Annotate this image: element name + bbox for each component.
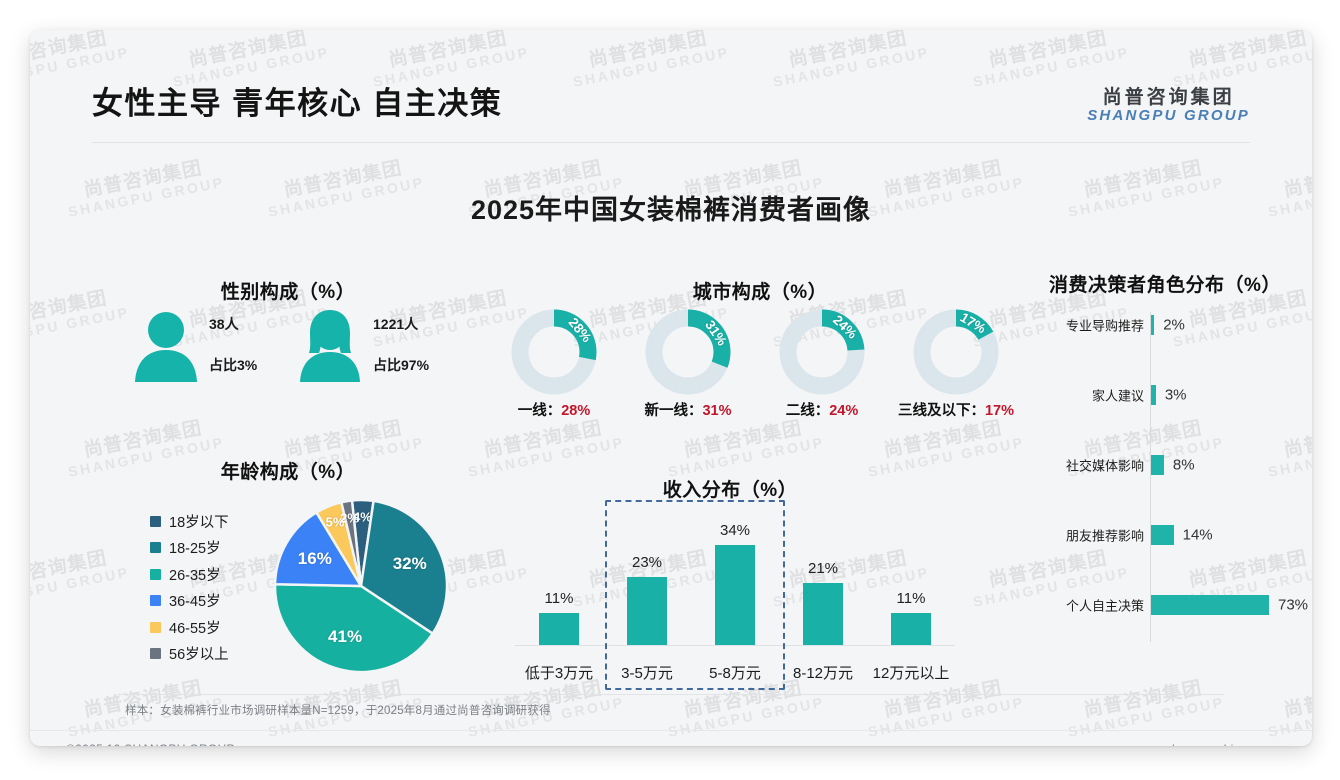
page-title: 2025年中国女装棉裤消费者画像 — [30, 188, 1312, 227]
donut-ring: 24% — [777, 307, 867, 397]
watermark: 尚普咨询集团SHANGPU GROUP — [663, 415, 826, 479]
sample-note: 样本：女装棉裤行业市场调研样本量N=1259，于2025年8月通过尚普咨询调研获… — [125, 702, 551, 718]
gender-section-title: 性别构成（%） — [138, 277, 438, 304]
age-legend-item: 46-55岁 — [150, 614, 260, 641]
female-count: 1221人 — [373, 314, 483, 334]
decision-bar-label: 家人建议 — [1092, 386, 1144, 405]
female-stats: 1221人 占比97% — [373, 314, 483, 375]
decision-bar-row: 朋友推荐影响14% — [1030, 522, 1300, 548]
income-bar-category: 低于3万元 — [525, 662, 593, 683]
decision-section-title: 消费决策者角色分布（%） — [1020, 270, 1310, 297]
decision-bar — [1151, 455, 1164, 475]
headline: 女性主导 青年核心 自主决策 — [92, 78, 502, 123]
income-section-title: 收入分布（%） — [510, 475, 950, 502]
watermark: 尚普咨询集团SHANGPU GROUP — [863, 415, 1026, 479]
age-legend-item: 36-45岁 — [150, 588, 260, 615]
income-bar-column: 21%8-12万元 — [779, 500, 867, 695]
city-donut-group: 28%一线：28%31%新一线：31%24%二线：24%17%三线及以下：17% — [490, 307, 1030, 407]
decision-bar-row: 家人建议3% — [1030, 382, 1300, 408]
city-donut-item: 24%二线：24% — [758, 307, 886, 397]
city-donut-item: 31%新一线：31% — [624, 307, 752, 397]
watermark: 尚普咨询集团SHANGPU GROUP — [30, 545, 131, 609]
income-bar-chart: 11%低于3万元23%3-5万元34%5-8万元21%8-12万元11%12万元… — [515, 500, 955, 695]
decision-bar-chart: 专业导购推荐2%家人建议3%社交媒体影响8%朋友推荐影响14%个人自主决策73% — [1030, 312, 1300, 642]
income-bar-category: 3-5万元 — [621, 662, 673, 683]
pie-slice-label: 16% — [298, 549, 332, 569]
website-url: www.shangpu-china.com — [1136, 742, 1274, 746]
donut-caption: 一线：28% — [490, 399, 618, 420]
income-bar — [627, 577, 667, 645]
legend-swatch — [150, 595, 161, 606]
age-legend: 18岁以下18-25岁26-35岁36-45岁46-55岁56岁以上 — [150, 508, 260, 667]
donut-caption-value: 28% — [561, 403, 590, 419]
decision-bar — [1151, 595, 1269, 615]
pie-slice-label: 32% — [393, 554, 427, 574]
footer-divider — [118, 694, 1224, 695]
decision-bar-row: 社交媒体影响8% — [1030, 452, 1300, 478]
income-bar-column: 11%12万元以上 — [867, 500, 955, 695]
donut-caption: 三线及以下：17% — [892, 399, 1020, 420]
legend-swatch — [150, 622, 161, 633]
donut-caption-text: 一线： — [518, 403, 562, 419]
pie-slice-label: 2% — [340, 511, 359, 526]
income-bar-value: 34% — [720, 522, 750, 539]
age-section-title: 年龄构成（%） — [128, 457, 448, 484]
income-bar-column: 34%5-8万元 — [691, 500, 779, 695]
legend-label: 18-25岁 — [169, 537, 221, 558]
legend-swatch — [150, 569, 161, 580]
legend-label: 18岁以下 — [169, 511, 229, 532]
donut-caption-text: 三线及以下： — [898, 403, 985, 419]
logo-english-text: SHANGPU GROUP — [1087, 108, 1250, 125]
decision-bar-value: 14% — [1183, 527, 1213, 544]
income-bar-value: 21% — [808, 560, 838, 577]
income-bar-value: 23% — [632, 554, 662, 571]
income-bar — [715, 545, 755, 645]
income-bar-column: 23%3-5万元 — [603, 500, 691, 695]
donut-caption-text: 二线： — [786, 403, 830, 419]
decision-bar-row: 个人自主决策73% — [1030, 592, 1300, 618]
decision-bar — [1151, 525, 1174, 545]
income-bar — [539, 613, 579, 645]
logo-chinese-text: 尚普咨询集团 — [1087, 87, 1250, 108]
header: 女性主导 青年核心 自主决策 尚普咨询集团 SHANGPU GROUP — [30, 30, 1312, 116]
decision-bar — [1151, 385, 1156, 405]
decision-bar-value: 8% — [1173, 457, 1195, 474]
decision-bar-label: 个人自主决策 — [1066, 596, 1144, 615]
income-bar-category: 5-8万元 — [709, 662, 761, 683]
infographic-card: 尚普咨询集团SHANGPU GROUP尚普咨询集团SHANGPU GROUP尚普… — [30, 30, 1312, 746]
legend-label: 56岁以上 — [169, 643, 229, 664]
donut-caption-value: 17% — [985, 403, 1014, 419]
legend-label: 36-45岁 — [169, 590, 221, 611]
legend-label: 46-55岁 — [169, 617, 221, 638]
header-divider — [92, 142, 1250, 143]
age-pie-labels: 4%32%41%16%5%2% — [273, 498, 449, 674]
age-pie-chart: 4%32%41%16%5%2% — [273, 498, 449, 674]
legend-swatch — [150, 648, 161, 659]
city-donut-item: 28%一线：28% — [490, 307, 618, 397]
donut-ring: 17% — [911, 307, 1001, 397]
donut-caption-text: 新一线： — [644, 403, 702, 419]
watermark: 尚普咨询集团SHANGPU GROUP — [30, 285, 131, 349]
legend-swatch — [150, 516, 161, 527]
donut-caption-value: 24% — [829, 403, 858, 419]
watermark: 尚普咨询集团SHANGPU GROUP — [463, 415, 626, 479]
income-bar — [803, 583, 843, 645]
male-silhouette-icon — [133, 308, 199, 384]
decision-bar-value: 73% — [1278, 597, 1308, 614]
decision-bar — [1151, 315, 1154, 335]
gender-section: 38人 占比3% 1221人 占比97% — [125, 308, 465, 388]
copyright-text: ©2025.10 SHANGPU GROUP — [66, 742, 235, 746]
age-legend-item: 18-25岁 — [150, 535, 260, 562]
income-bar-category: 12万元以上 — [873, 662, 950, 683]
decision-bar-label: 专业导购推荐 — [1066, 316, 1144, 335]
donut-ring: 31% — [643, 307, 733, 397]
age-legend-item: 26-35岁 — [150, 561, 260, 588]
decision-bar-label: 朋友推荐影响 — [1066, 526, 1144, 545]
donut-caption-value: 31% — [702, 403, 731, 419]
footer-divider-bottom — [30, 730, 1312, 731]
legend-swatch — [150, 542, 161, 553]
pie-slice-label: 41% — [328, 627, 362, 647]
donut-ring: 28% — [509, 307, 599, 397]
female-silhouette-icon — [297, 308, 363, 384]
income-bar-value: 11% — [545, 590, 574, 607]
brand-logo: 尚普咨询集团 SHANGPU GROUP — [1087, 87, 1250, 125]
age-legend-item: 18岁以下 — [150, 508, 260, 535]
income-bar-value: 11% — [897, 590, 926, 607]
decision-bar-row: 专业导购推荐2% — [1030, 312, 1300, 338]
decision-bar-value: 2% — [1163, 317, 1185, 334]
city-section-title: 城市构成（%） — [490, 277, 1030, 304]
income-bar-column: 11%低于3万元 — [515, 500, 603, 695]
income-bar — [891, 613, 931, 645]
city-donut-item: 17%三线及以下：17% — [892, 307, 1020, 397]
donut-caption: 二线：24% — [758, 399, 886, 420]
decision-bar-value: 3% — [1165, 387, 1187, 404]
decision-bar-label: 社交媒体影响 — [1066, 456, 1144, 475]
donut-caption: 新一线：31% — [624, 399, 752, 420]
female-share: 占比97% — [373, 355, 483, 375]
age-legend-item: 56岁以上 — [150, 641, 260, 668]
income-bar-category: 8-12万元 — [793, 662, 853, 683]
legend-label: 26-35岁 — [169, 564, 221, 585]
